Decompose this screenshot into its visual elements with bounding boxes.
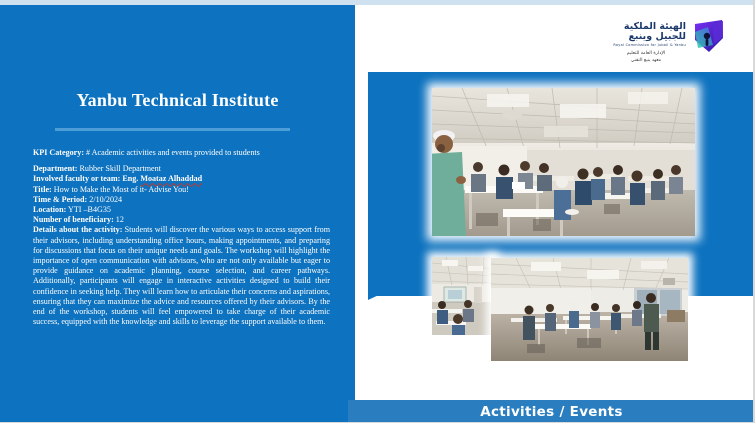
field-location-value: YTI –B4G35 bbox=[66, 205, 111, 214]
field-time-period-label: Time & Period: bbox=[33, 195, 87, 204]
classroom-photo-1-graphic bbox=[432, 88, 695, 236]
field-kpi-category-value: # Academic activities and events provide… bbox=[84, 148, 260, 157]
organization-logo: الهيئة الملكية للجبيل وينبع Royal Commis… bbox=[600, 18, 725, 76]
activity-photo-1 bbox=[432, 88, 695, 236]
logo-subtitle-line-2: معهد ينبع التقني bbox=[600, 57, 692, 64]
classroom-photo-3-graphic bbox=[491, 258, 688, 361]
logo-wordmark: الهيئة الملكية للجبيل وينبع Royal Commis… bbox=[600, 22, 686, 47]
field-kpi-category: KPI Category: # Academic activities and … bbox=[33, 148, 330, 158]
activity-photo-3 bbox=[491, 258, 688, 361]
field-activity-details-label: Details about the activity: bbox=[33, 225, 122, 234]
title-divider bbox=[55, 128, 290, 131]
logo-emblem-icon bbox=[692, 18, 725, 56]
field-faculty: Involved faculty or team: Eng. Moataz Al… bbox=[33, 174, 330, 184]
classroom-photo-2-graphic bbox=[432, 257, 494, 335]
field-title-label: Title: bbox=[33, 185, 52, 194]
activity-details-block: KPI Category: # Academic activities and … bbox=[33, 148, 330, 327]
footer-label: Activities / Events bbox=[480, 404, 623, 420]
field-location: Location: YTI –B4G35 bbox=[33, 205, 330, 215]
footer-bar: Activities / Events bbox=[348, 400, 755, 423]
field-kpi-category-label: KPI Category: bbox=[33, 148, 84, 157]
presentation-slide: Yanbu Technical Institute KPI Category: … bbox=[0, 0, 755, 423]
field-location-label: Location: bbox=[33, 205, 66, 214]
field-department-value: Rubber Skill Department bbox=[78, 164, 161, 173]
field-faculty-label: Involved faculty or team: bbox=[33, 174, 120, 183]
field-beneficiary-count: Number of beneficiary: 12 bbox=[33, 215, 330, 225]
field-title: Title: How to Make the Most of it- Advis… bbox=[33, 185, 330, 195]
page-title: Yanbu Technical Institute bbox=[0, 90, 355, 111]
field-time-period-value: 2/10/2024 bbox=[87, 195, 122, 204]
field-activity-details: Details about the activity: Students wil… bbox=[33, 225, 330, 327]
field-faculty-name: Moataz Alhaddad bbox=[140, 174, 202, 183]
field-beneficiary-count-label: Number of beneficiary: bbox=[33, 215, 114, 224]
logo-subtitle-line-1: الإدارة العامة للتعليم bbox=[600, 50, 692, 57]
field-title-value: How to Make the Most of it- Advise You! bbox=[52, 185, 189, 194]
activity-photo-2 bbox=[432, 257, 494, 335]
field-department: Department: Rubber Skill Department bbox=[33, 164, 330, 174]
field-time-period: Time & Period: 2/10/2024 bbox=[33, 195, 330, 205]
field-beneficiary-count-value: 12 bbox=[114, 215, 124, 224]
field-department-label: Department: bbox=[33, 164, 78, 173]
field-activity-details-value: Students will discover the various ways … bbox=[33, 225, 330, 326]
logo-subtitle: الإدارة العامة للتعليم معهد ينبع التقني bbox=[600, 50, 692, 64]
logo-arabic-line-2: للجبيل وينبع bbox=[600, 32, 686, 42]
logo-english-line: Royal Commission for Jubail & Yanbu bbox=[600, 43, 686, 47]
field-faculty-prefix: Eng. bbox=[120, 174, 140, 183]
